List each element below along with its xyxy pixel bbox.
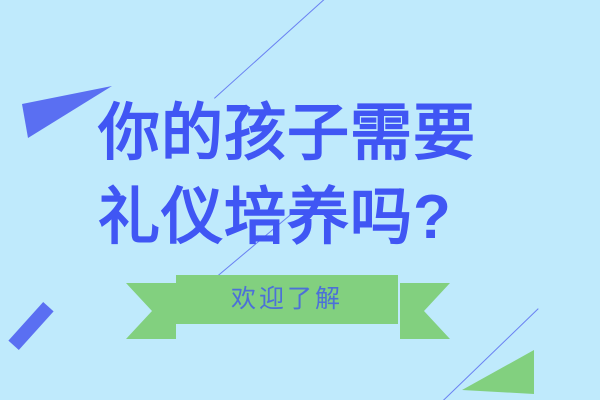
- ribbon-tail-right: [400, 283, 450, 339]
- green-triangle-shape: [462, 342, 600, 400]
- diagonal-hairline-bottom: [443, 308, 539, 400]
- headline-line-2: 礼仪培养吗?: [98, 176, 528, 260]
- ribbon-label: 欢迎了解: [231, 287, 343, 312]
- ribbon-tail-left: [126, 283, 176, 339]
- diagonal-hairline-top: [214, 0, 326, 99]
- ribbon-panel: 欢迎了解: [176, 275, 398, 324]
- diagonal-bar-shape: [8, 302, 53, 350]
- ribbon-banner: 欢迎了解: [126, 272, 450, 342]
- headline-block: 你的孩子需要 礼仪培养吗?: [98, 92, 528, 260]
- poster-canvas: 你的孩子需要 礼仪培养吗? 欢迎了解: [0, 0, 600, 400]
- headline-line-1: 你的孩子需要: [98, 92, 528, 176]
